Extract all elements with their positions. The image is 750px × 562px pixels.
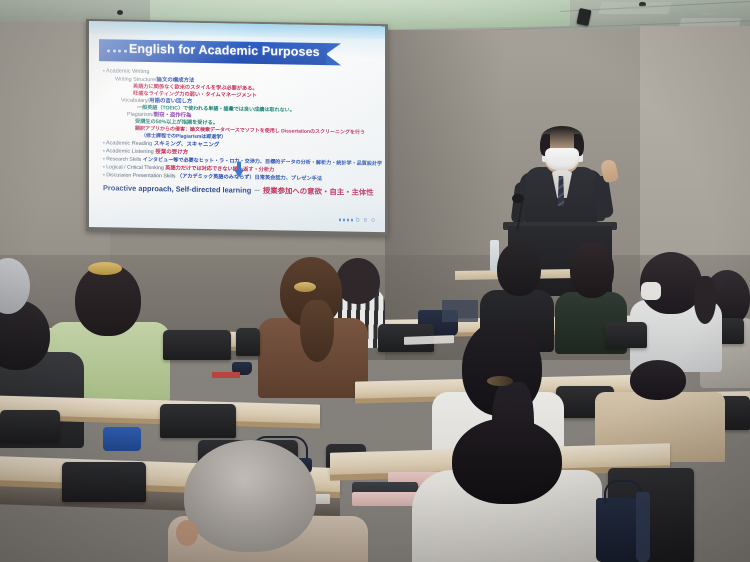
head [570,242,614,298]
chair-back [605,322,647,348]
slide-bullet-en: Academic Reading [106,140,152,147]
head [336,258,380,304]
head [497,242,541,296]
slide-title-dots-icon [107,49,127,52]
chair-back [163,330,231,360]
slide-subitem-jp: 用語の言い回し方 [149,98,192,105]
phone-back-shell [352,492,418,506]
lecture-hall-photo: English for Academic Purposes ▪ Academic… [0,0,750,562]
slide-bullet-icon: ▪ [103,140,105,146]
chair-back [236,328,260,356]
conclusion-separator: － [253,186,260,195]
slide-bullet-jp: 授業の受け方 [155,149,188,156]
microphone-icon [512,194,524,203]
slide-bullet-icon: ▪ [103,148,105,154]
projection-screen: English for Academic Purposes ▪ Academic… [89,21,385,232]
slide-bullet-icon: ▪ [103,164,105,170]
slide-bullet-icon: ▪ [103,156,105,162]
beo-logo: b e o [339,216,376,224]
face-mask [641,282,661,300]
loose-papers [442,300,478,322]
conclusion-jp: 授業参加への意欲・自主・主体性 [263,186,374,197]
red-booklet [212,372,240,378]
slide-subitem-jp: 論文の構成方法 [157,77,195,84]
presenter-face-mask [545,148,579,170]
navy-handbag-strap [636,492,650,562]
slide-bullet-jp: 英語力だけでは対応できない読み返す・分析力 [165,165,274,173]
slide-bullet-icon: ▪ [103,68,105,74]
slide-bullet-en: Research Skills [106,156,141,163]
slide-bullet-en: Academic Listening [106,148,154,155]
conclusion-en: Proactive approach, Self-directed learni… [103,183,251,195]
ponytail [300,300,334,362]
slide-section-heading: Academic Writing [106,68,149,75]
slide-subitem-jp: 剽窃・盗作行為 [154,112,192,119]
head [452,418,562,504]
hair-clip [88,262,122,275]
chair-back [0,410,60,442]
ear [176,520,198,546]
slide-bullet-en: Discussion Presentation Skills [106,172,175,179]
hair-strand [694,276,716,324]
slide-bullet-icon: ▪ [103,172,105,178]
hair-tie [487,376,513,386]
blue-tote-bag [103,427,141,451]
slide-bullet-jp: （アカデミック英語のみならず）日常英会話力、プレゼン手法 [177,174,322,183]
slide-subitem-en: Writing Structure/ [115,76,157,83]
head [630,360,686,400]
hair-clip [294,282,316,292]
beo-logo-text: b e o [356,217,376,224]
slide-subitem-en: Vocabulary/ [121,98,149,104]
chair-back [160,404,236,438]
slide-detail: （修士課程でのPlagiarismは即退学） [141,133,226,140]
chair-back [62,462,146,502]
head [184,440,316,552]
ceiling-speaker-small [117,10,123,15]
down-arrow-icon [234,170,244,178]
slide-bullet-en: Logical / Critical Thinking [106,164,164,171]
slide-bullet-jp: スキミング、スキャニング [154,141,220,148]
slide-subitem-en: Plagiarism/ [127,112,154,118]
beo-logo-dots-icon [339,219,353,222]
